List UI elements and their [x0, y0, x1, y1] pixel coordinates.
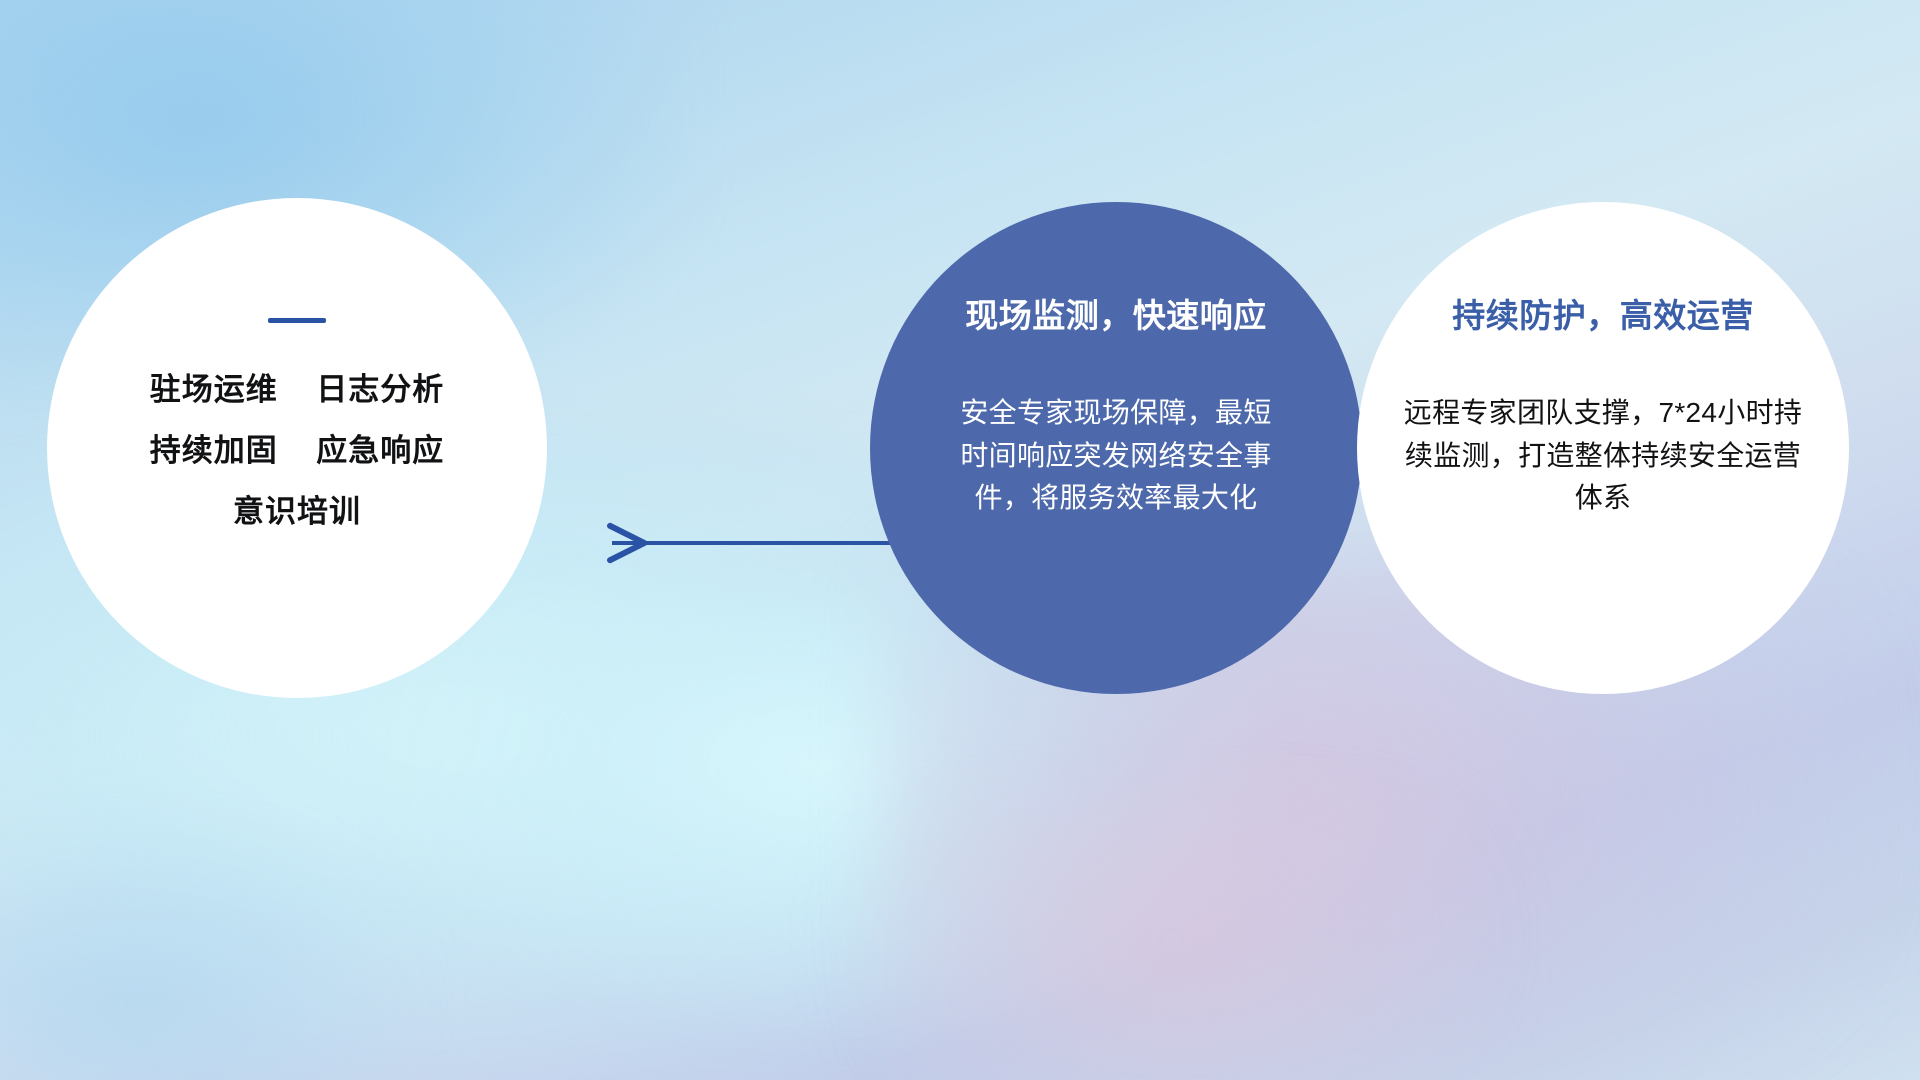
- circle-right-title: 持续防护，高效运营: [1452, 298, 1754, 334]
- background-glow-bottom-left: [0, 821, 422, 1080]
- circle-right-continuous-protection[interactable]: 持续防护，高效运营 远程专家团队支撑，7*24小时持续监测，打造整体持续安全运营…: [1357, 202, 1849, 694]
- capability-row-1: 驻场运维 日志分析: [150, 374, 444, 405]
- slide-canvas: 驻场运维 日志分析 持续加固 应急响应 意识培训 现场监测，快速响应 安全专家现…: [0, 0, 1920, 1080]
- circle-right-body: 远程专家团队支撑，7*24小时持续监测，打造整体持续安全运营体系: [1403, 392, 1803, 520]
- circle-middle-onsite-monitoring[interactable]: 现场监测，快速响应 安全专家现场保障，最短时间响应突发网络安全事件，将服务效率最…: [870, 202, 1362, 694]
- circle-middle-title: 现场监测，快速响应: [965, 298, 1267, 334]
- arrow-left-icon: [596, 512, 926, 574]
- circle-left-capabilities[interactable]: 驻场运维 日志分析 持续加固 应急响应 意识培训: [47, 198, 547, 698]
- circle-middle-body: 安全专家现场保障，最短时间响应突发网络安全事件，将服务效率最大化: [951, 392, 1281, 520]
- divider-dash: [268, 318, 326, 323]
- capability-row-2: 持续加固 应急响应: [150, 435, 444, 466]
- background-glow-pink: [845, 799, 1498, 1080]
- capability-row-3: 意识培训: [233, 496, 361, 527]
